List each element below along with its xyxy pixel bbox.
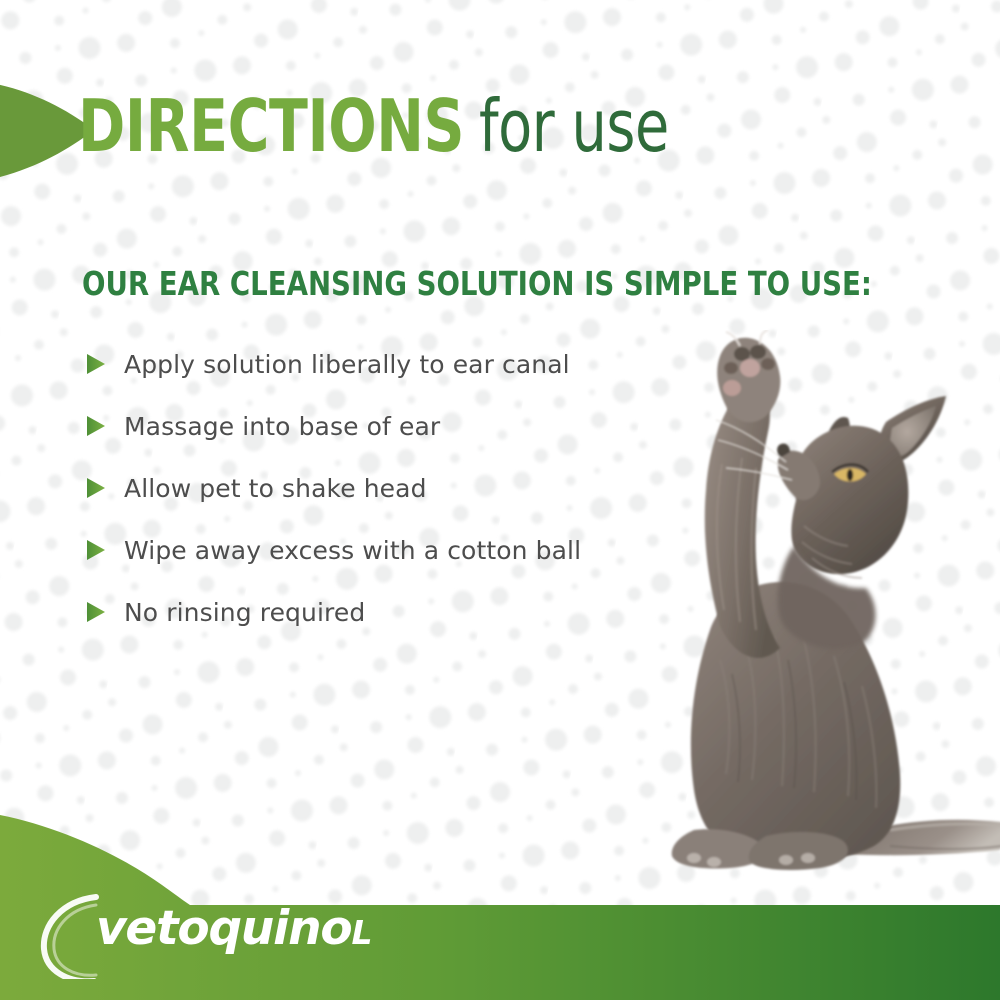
logo-wordmark: vetoquinoL <box>96 901 372 956</box>
list-item: Allow pet to shake head <box>86 457 706 519</box>
logo-wordmark-tail: L <box>351 913 372 952</box>
vetoquinol-logo[interactable]: vetoquinoL <box>38 887 338 979</box>
page-title-light: for use <box>479 78 669 174</box>
list-item: No rinsing required <box>86 581 706 643</box>
list-item-label: Apply solution liberally to ear canal <box>124 350 570 379</box>
triangle-right-icon <box>86 414 124 438</box>
triangle-right-icon <box>86 352 124 376</box>
directions-for-use-poster: DIRECTIONSfor use OUR EAR CLEANSING SOLU… <box>0 0 1000 1000</box>
circular-swoosh-icon <box>44 897 96 979</box>
page-title: DIRECTIONSfor use <box>78 78 700 174</box>
section-subheading: OUR EAR CLEANSING SOLUTION IS SIMPLE TO … <box>82 264 872 304</box>
list-item: Massage into base of ear <box>86 395 706 457</box>
page-title-strong: DIRECTIONS <box>78 78 464 174</box>
list-item-label: Massage into base of ear <box>124 412 440 441</box>
list-item: Wipe away excess with a cotton ball <box>86 519 706 581</box>
triangle-right-icon <box>86 600 124 624</box>
list-item-label: Allow pet to shake head <box>124 474 427 503</box>
footer: vetoquinoL <box>0 815 1000 1000</box>
triangle-right-icon <box>86 538 124 562</box>
list-item-label: No rinsing required <box>124 598 365 627</box>
instructions-list: Apply solution liberally to ear canal Ma… <box>86 333 706 643</box>
list-item: Apply solution liberally to ear canal <box>86 333 706 395</box>
logo-wordmark-text: vetoquino <box>96 901 351 956</box>
header: DIRECTIONSfor use <box>0 86 1000 176</box>
triangle-right-icon <box>86 476 124 500</box>
list-item-label: Wipe away excess with a cotton ball <box>124 536 581 565</box>
